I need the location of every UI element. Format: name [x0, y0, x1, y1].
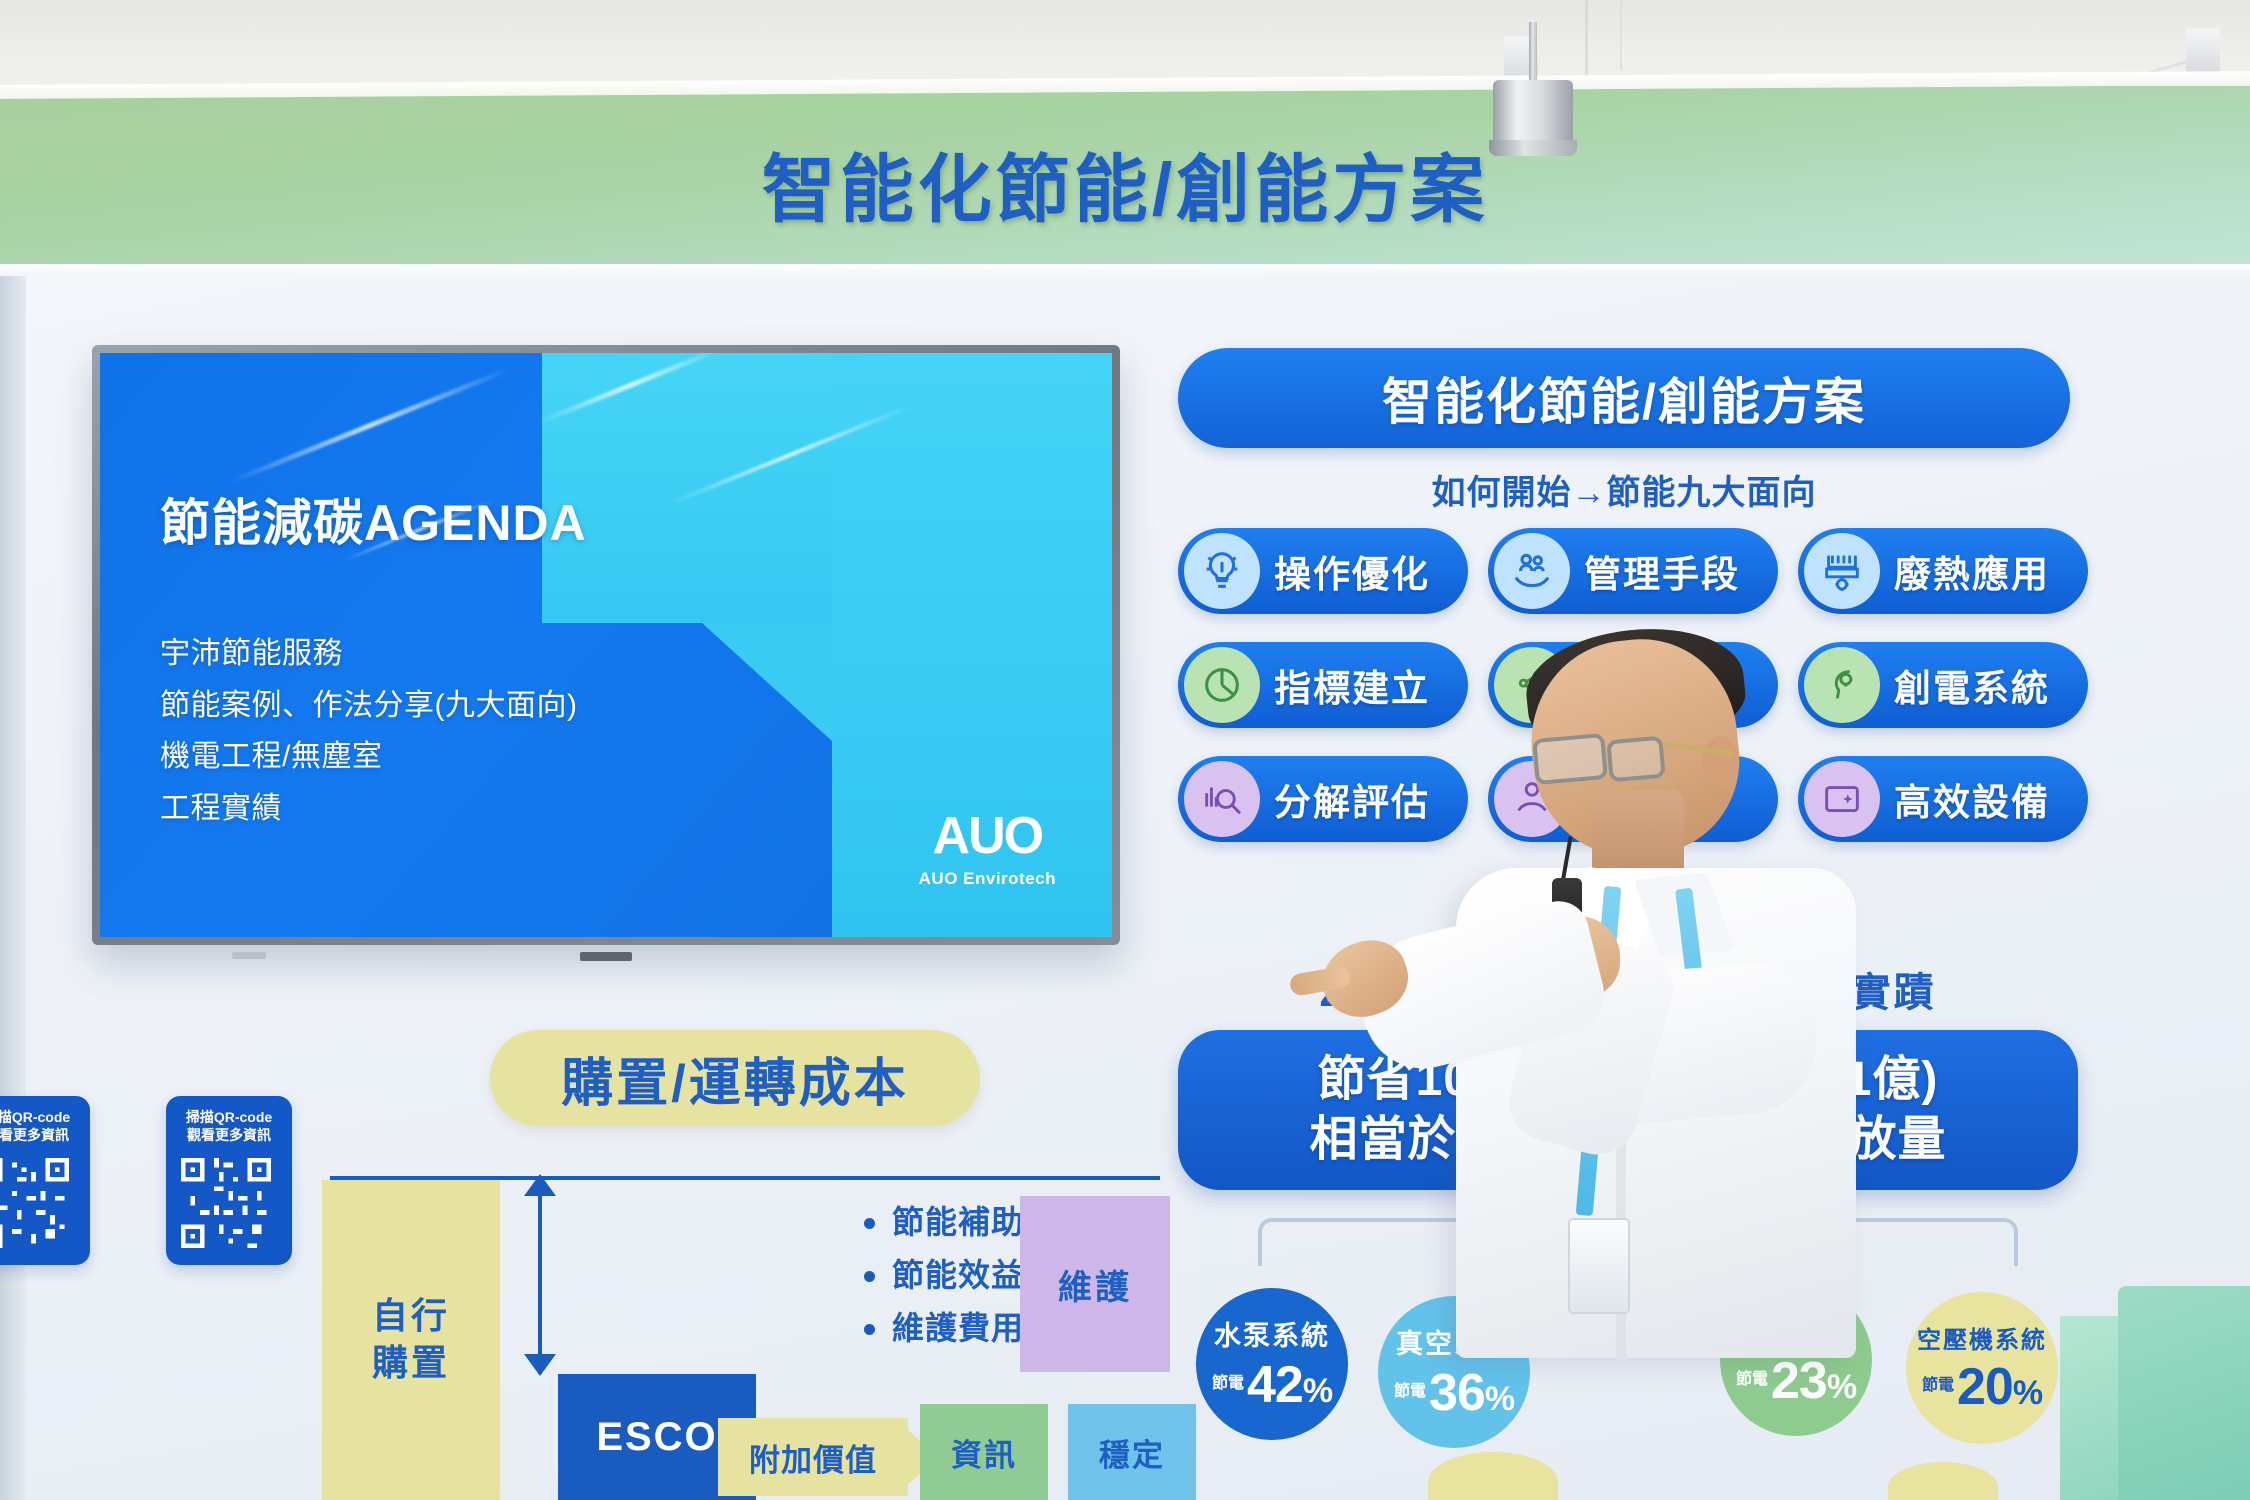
list-item: 節能效益 [860, 1249, 1024, 1302]
exhibition-booth-photo: 智能化節能/創能方案 節能減碳AGENDA 宇沛節能服務 節能案例、作法分享(九… [0, 0, 2250, 1500]
block-maintenance-label: 維護 [1058, 1260, 1132, 1309]
slide-streak-1 [230, 367, 510, 484]
badge-value: 20% [1957, 1357, 2042, 1417]
slide-title: 節能減碳AGENDA [160, 483, 587, 555]
agenda-item: 工程實績 [160, 783, 577, 835]
booth-green-panel [2118, 1286, 2250, 1500]
chip-management-measures[interactable]: 管理手段 [1488, 528, 1778, 614]
lightbulb-icon [1184, 533, 1260, 609]
presenter-glasses-left [1532, 733, 1608, 785]
presenter-ear [1702, 736, 1738, 786]
tag-added-value: 附加價值 [718, 1418, 908, 1496]
chip-operation-optimization[interactable]: 操作優化 [1178, 528, 1468, 614]
block-stability: 穩定 [1068, 1404, 1196, 1500]
badge-value: 42% [1247, 1355, 1332, 1415]
cost-comparison-chart: 自行 購置 ESCO 節能補助 節能效益 維護費用 維護 附加價值 資訊 穩定 [300, 1168, 1160, 1500]
rig-clamp-right [2186, 28, 2220, 74]
bar-esco-label: ESCO [596, 1415, 717, 1460]
block-stability-label: 穩定 [1099, 1430, 1165, 1475]
chip-label: 操作優化 [1274, 544, 1430, 598]
venue-banner-title: 智能化節能/創能方案 [0, 130, 2250, 237]
list-item: 節能補助 [860, 1196, 1024, 1249]
badge-pump-system: 水泵系統 節電 42% [1196, 1288, 1348, 1440]
auo-logo-subtitle: AUO Envirotech [919, 869, 1056, 889]
auo-logo: AUO AUO Envirotech [919, 810, 1056, 889]
chip-label: 分解評估 [1274, 772, 1430, 826]
agenda-item: 機電工程/無塵室 [160, 731, 577, 783]
chip-label: 高效設備 [1894, 772, 2050, 826]
savings-arrow-line [538, 1182, 542, 1374]
block-information-label: 資訊 [951, 1430, 1017, 1475]
cost-section-pill: 購置/運轉成本 [490, 1030, 980, 1126]
tv-bezel-sticker [232, 952, 266, 959]
chip-label: 指標建立 [1274, 658, 1430, 712]
spotlight-head [1493, 80, 1573, 148]
chip-label: 廢熱應用 [1894, 544, 2050, 598]
spotlight-lens [1489, 140, 1577, 156]
bar-self-purchase: 自行 購置 [322, 1180, 500, 1500]
list-item: 維護費用 [860, 1302, 1024, 1355]
badge-unit-label: 節電 [1394, 1384, 1426, 1400]
poster-header-title: 智能化節能/創能方案 [1382, 362, 1866, 434]
agenda-item: 節能案例、作法分享(九大面向) [160, 680, 577, 732]
qr-card-caption: 掃描QR-code觀看更多資訊 [176, 1108, 282, 1145]
qr-card-caption: 掃描QR-code觀看更多資訊 [0, 1108, 80, 1145]
presentation-display[interactable]: 節能減碳AGENDA 宇沛節能服務 節能案例、作法分享(九大面向) 機電工程/無… [92, 345, 1120, 945]
tag-added-value-label: 附加價值 [749, 1435, 877, 1480]
cost-section-title: 購置/運轉成本 [561, 1041, 908, 1116]
badge-unit-label: 節電 [1922, 1378, 1954, 1394]
badge-unit-label: 節電 [1212, 1376, 1244, 1392]
pie-chart-icon [1184, 647, 1260, 723]
ceiling-seam-secondary [1620, 0, 1622, 70]
tv-bezel-logo [580, 952, 632, 961]
presenter-glasses-right [1606, 736, 1665, 783]
cost-benefit-bullets: 節能補助 節能效益 維護費用 [860, 1196, 1024, 1355]
slide-canvas: 節能減碳AGENDA 宇沛節能服務 節能案例、作法分享(九大面向) 機電工程/無… [100, 353, 1112, 937]
chip-decomposition-assessment[interactable]: 分解評估 [1178, 756, 1468, 842]
badge-air-compressor-system: 空壓機系統 節電 20% [1906, 1292, 2058, 1444]
auo-logo-mark: AUO [919, 810, 1056, 862]
block-information: 資訊 [920, 1404, 1048, 1500]
slide-agenda-list: 宇沛節能服務 節能案例、作法分享(九大面向) 機電工程/無塵室 工程實績 [160, 628, 577, 834]
wall-left-fold [0, 276, 26, 1500]
magnifier-analysis-icon [1184, 761, 1260, 837]
bar-self-purchase-label: 自行 購置 [372, 1293, 450, 1387]
savings-arrow-down [524, 1354, 556, 1376]
qr-code-image [0, 1153, 74, 1253]
savings-arrow-up [524, 1174, 556, 1196]
chip-waste-heat-application[interactable]: 廢熱應用 [1798, 528, 2088, 614]
qr-card[interactable]: 掃描QR-code觀看更多資訊 [166, 1096, 292, 1265]
presenter-id-badge [1568, 1218, 1630, 1314]
agenda-item: 宇沛節能服務 [160, 628, 577, 680]
poster-header-pill: 智能化節能/創能方案 [1178, 348, 2070, 448]
chip-index-establishment[interactable]: 指標建立 [1178, 642, 1468, 728]
qr-code-image [176, 1153, 276, 1253]
factory-gear-icon [1804, 533, 1880, 609]
chip-label: 管理手段 [1584, 544, 1740, 598]
block-maintenance: 維護 [1020, 1196, 1170, 1372]
poster-subtitle: 如何開始→節能九大面向 [1178, 465, 2070, 514]
qr-card-partial[interactable]: 掃描QR-code觀看更多資訊 [0, 1096, 90, 1265]
badge-label: 水泵系統 [1214, 1314, 1330, 1353]
people-hand-icon [1494, 533, 1570, 609]
badge-label: 空壓機系統 [1917, 1320, 2047, 1355]
presenter [1440, 640, 1860, 1500]
slide-decor-notch [702, 623, 832, 741]
chip-label: 創電系統 [1894, 658, 2050, 712]
